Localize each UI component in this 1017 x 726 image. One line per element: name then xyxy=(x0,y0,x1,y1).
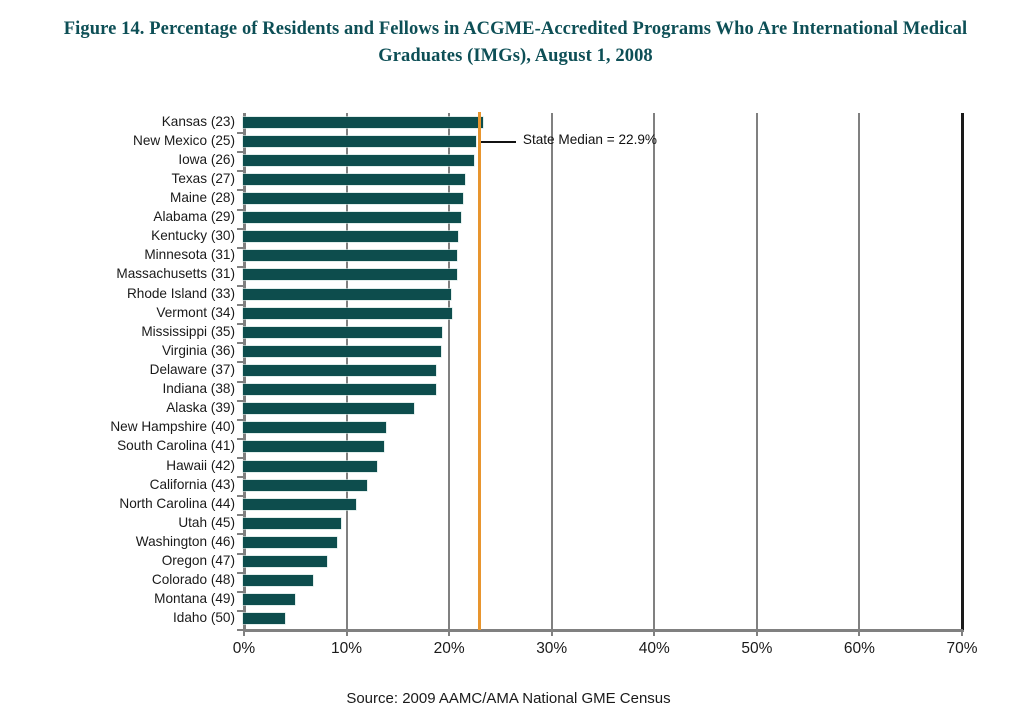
bar xyxy=(243,594,295,605)
bar xyxy=(243,155,474,166)
bar-row xyxy=(243,553,963,571)
x-axis-tick-label: 50% xyxy=(741,640,772,658)
bar-row xyxy=(243,151,963,169)
bar xyxy=(243,117,483,128)
bar-row xyxy=(243,533,963,551)
bar-row xyxy=(243,323,963,341)
y-axis-category-label: Montana (49) xyxy=(0,591,235,606)
x-axis-tick xyxy=(448,629,450,636)
bar-row xyxy=(243,495,963,513)
bar xyxy=(243,193,463,204)
y-axis-category-label: North Carolina (44) xyxy=(0,496,235,511)
chart-figure: Kansas (23)New Mexico (25)Iowa (26)Texas… xyxy=(0,0,1017,726)
bar-row xyxy=(243,381,963,399)
bar-row xyxy=(243,304,963,322)
bar-row xyxy=(243,170,963,188)
bar xyxy=(243,575,313,586)
bar-row xyxy=(243,591,963,609)
y-axis-tick xyxy=(237,304,243,306)
bar-row xyxy=(243,228,963,246)
x-axis-tick xyxy=(346,629,348,636)
bar-row xyxy=(243,419,963,437)
y-axis-tick xyxy=(237,495,243,497)
y-axis-category-label: Iowa (26) xyxy=(0,152,235,167)
state-median-label: State Median = 22.9% xyxy=(523,132,657,147)
y-axis-category-label: Washington (46) xyxy=(0,534,235,549)
bar xyxy=(243,174,465,185)
bar xyxy=(243,499,356,510)
y-axis-tick xyxy=(237,151,243,153)
y-axis-category-label: Utah (45) xyxy=(0,515,235,530)
bar xyxy=(243,461,377,472)
y-axis-category-label: Alaska (39) xyxy=(0,400,235,415)
x-axis-line xyxy=(243,629,964,632)
y-axis-tick xyxy=(237,189,243,191)
y-axis-category-label: Alabama (29) xyxy=(0,209,235,224)
y-axis-category-label: Minnesota (31) xyxy=(0,247,235,262)
y-axis-category-label: New Hampshire (40) xyxy=(0,419,235,434)
x-axis-tick-label: 10% xyxy=(331,640,362,658)
bar-row xyxy=(243,285,963,303)
y-axis-tick xyxy=(237,419,243,421)
bar xyxy=(243,269,457,280)
x-axis-tick xyxy=(243,629,245,636)
bar xyxy=(243,308,452,319)
bar xyxy=(243,231,458,242)
y-axis-tick xyxy=(237,572,243,574)
x-axis-tick xyxy=(858,629,860,636)
x-axis-tick-label: 60% xyxy=(844,640,875,658)
bar xyxy=(243,556,327,567)
y-axis-category-label: Texas (27) xyxy=(0,171,235,186)
bar-row xyxy=(243,457,963,475)
y-axis-tick xyxy=(237,323,243,325)
bar xyxy=(243,403,414,414)
bar-row xyxy=(243,610,963,628)
bar xyxy=(243,346,441,357)
bar xyxy=(243,537,337,548)
y-axis-category-label: Virginia (36) xyxy=(0,343,235,358)
y-axis-tick xyxy=(237,553,243,555)
bar xyxy=(243,136,476,147)
bar-row xyxy=(243,266,963,284)
bar xyxy=(243,422,386,433)
bar-row xyxy=(243,438,963,456)
y-axis-tick xyxy=(237,476,243,478)
y-axis-tick xyxy=(237,514,243,516)
bar xyxy=(243,384,436,395)
bar xyxy=(243,365,436,376)
y-axis-category-label: Maine (28) xyxy=(0,190,235,205)
y-axis-category-label: New Mexico (25) xyxy=(0,133,235,148)
source-note: Source: 2009 AAMC/AMA National GME Censu… xyxy=(0,690,1017,707)
bar xyxy=(243,480,367,491)
y-axis-category-label: Kentucky (30) xyxy=(0,228,235,243)
y-axis-category-label: Rhode Island (33) xyxy=(0,286,235,301)
plot-area: State Median = 22.9% xyxy=(243,113,963,629)
y-axis-category-label: Vermont (34) xyxy=(0,305,235,320)
bar xyxy=(243,441,384,452)
bar-row xyxy=(243,361,963,379)
state-median-line xyxy=(478,112,481,630)
x-axis-tick xyxy=(551,629,553,636)
y-axis-category-label: Indiana (38) xyxy=(0,381,235,396)
bar xyxy=(243,518,341,529)
bar-row xyxy=(243,400,963,418)
y-axis-tick xyxy=(237,457,243,459)
y-axis-tick xyxy=(237,247,243,249)
y-axis-tick xyxy=(237,381,243,383)
y-axis-tick xyxy=(237,170,243,172)
y-axis-tick xyxy=(237,132,243,134)
bar xyxy=(243,289,451,300)
y-axis-category-label: South Carolina (41) xyxy=(0,438,235,453)
y-axis-category-label: Kansas (23) xyxy=(0,114,235,129)
y-axis-tick xyxy=(237,342,243,344)
y-axis-category-label: Hawaii (42) xyxy=(0,458,235,473)
y-axis-tick xyxy=(237,285,243,287)
bar-row xyxy=(243,247,963,265)
x-axis-tick xyxy=(961,629,963,636)
bar-row xyxy=(243,572,963,590)
x-axis-tick-label: 0% xyxy=(233,640,255,658)
bar-row xyxy=(243,342,963,360)
x-axis-tick xyxy=(653,629,655,636)
bar-row xyxy=(243,514,963,532)
x-axis-labels: 0%10%20%30%40%50%60%70% xyxy=(0,640,1017,664)
x-axis-tick-label: 20% xyxy=(434,640,465,658)
y-axis-category-label: Delaware (37) xyxy=(0,362,235,377)
y-axis-labels: Kansas (23)New Mexico (25)Iowa (26)Texas… xyxy=(0,113,235,629)
bar-row xyxy=(243,189,963,207)
x-axis-tick-label: 40% xyxy=(639,640,670,658)
bar-row xyxy=(243,476,963,494)
x-axis-tick-label: 30% xyxy=(536,640,567,658)
y-axis-tick xyxy=(237,591,243,593)
y-axis-category-label: California (43) xyxy=(0,477,235,492)
bar-row xyxy=(243,113,963,131)
y-axis-tick xyxy=(237,533,243,535)
y-axis-category-label: Colorado (48) xyxy=(0,572,235,587)
bar xyxy=(243,327,442,338)
x-axis-tick-label: 70% xyxy=(946,640,977,658)
y-axis-tick xyxy=(237,228,243,230)
y-axis-tick xyxy=(237,438,243,440)
x-axis-tick xyxy=(756,629,758,636)
y-axis-category-label: Idaho (50) xyxy=(0,610,235,625)
bar xyxy=(243,212,461,223)
bar xyxy=(243,613,285,624)
y-axis-tick xyxy=(237,400,243,402)
y-axis-tick xyxy=(237,209,243,211)
median-leader-line xyxy=(481,141,516,143)
bar xyxy=(243,250,457,261)
bar-row xyxy=(243,209,963,227)
y-axis-category-label: Mississippi (35) xyxy=(0,324,235,339)
y-axis-category-label: Massachusetts (31) xyxy=(0,266,235,281)
y-axis-tick xyxy=(237,610,243,612)
y-axis-category-label: Oregon (47) xyxy=(0,553,235,568)
y-axis-tick xyxy=(237,361,243,363)
y-axis-tick xyxy=(237,266,243,268)
